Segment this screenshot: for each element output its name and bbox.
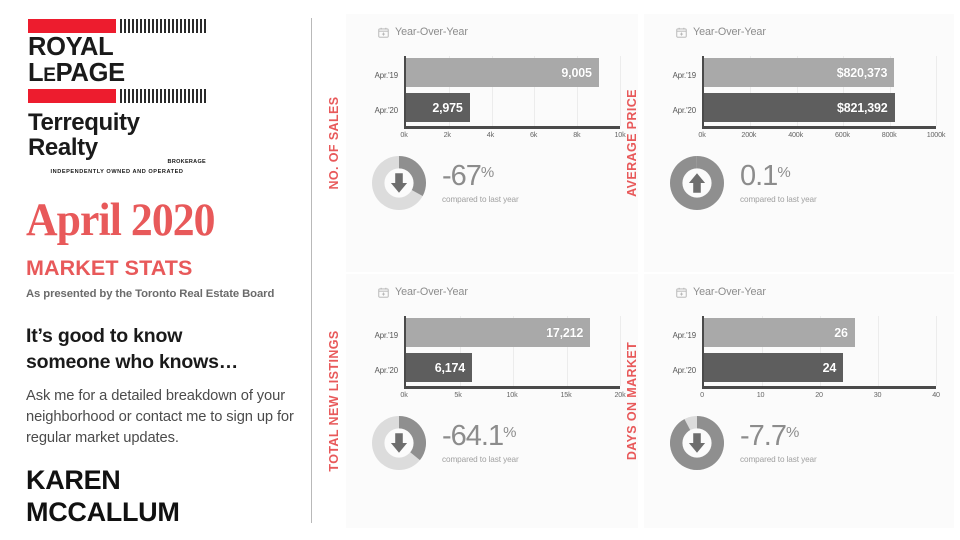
bar-prev-year: $820,373 xyxy=(704,58,894,87)
logo-brokerage-name: Terrequity Realty BROKERAGE xyxy=(28,110,206,160)
delta-percent-value: 0.1 xyxy=(740,160,777,192)
calendar-icon xyxy=(676,27,687,38)
yoy-label: Year-Over-Year xyxy=(693,26,766,38)
logo-brokerage-suffix: BROKERAGE xyxy=(168,160,206,166)
donut-down-icon-2 xyxy=(372,416,426,470)
gridline xyxy=(936,316,937,386)
bar-chart-no-of-sales: Apr.'19 Apr.'20 9,0052,975 0k2k4k6k8k10k xyxy=(356,52,624,144)
x-axis-ticks-1: 0k200k400k600k800k1000k xyxy=(702,130,936,142)
agent-blurb: Ask me for a detailed breakdown of your … xyxy=(26,386,296,449)
plot-area-2: 17,2126,174 xyxy=(404,316,620,386)
bar-value-label: $820,373 xyxy=(837,66,888,80)
calendar-icon xyxy=(378,287,389,298)
category-label-text: DAYS ON MARKET xyxy=(625,342,639,460)
bar-current-year: $821,392 xyxy=(704,93,895,122)
x-axis-line xyxy=(702,386,936,389)
category-label-average-price: AVERAGE PRICE xyxy=(620,14,644,272)
yoy-label: Year-Over-Year xyxy=(395,26,468,38)
agent-tagline-line1: It’s good to know xyxy=(26,324,296,350)
logo-bottom-row xyxy=(28,88,206,103)
bar-chart-days-on-market: Apr.'19 Apr.'20 2624 010203040 xyxy=(654,312,940,404)
x-tick-label: 30 xyxy=(874,390,882,399)
agent-name-last: MCCALLUM xyxy=(26,497,296,529)
percent-symbol: % xyxy=(786,424,799,441)
x-tick-label: 200k xyxy=(741,130,756,139)
bar-prev-year: 9,005 xyxy=(406,58,599,87)
infographic-page: ROYAL LEPAGE Terrequity Realty BROKERAGE… xyxy=(0,0,960,540)
logo-wordmark-part2: PAGE xyxy=(56,59,125,87)
bar-value-label: 17,212 xyxy=(546,326,583,340)
x-tick-label: 15k xyxy=(561,390,572,399)
yoy-header: Year-Over-Year xyxy=(378,26,624,38)
delta-note: compared to last year xyxy=(442,195,519,204)
stats-grid: NO. OF SALES Year-Over-Year xyxy=(322,14,954,528)
logo-wordmark-e: E xyxy=(43,65,55,86)
delta-percent: 0.1% xyxy=(740,162,817,191)
plot-area-0: 9,0052,975 xyxy=(404,56,620,126)
bar-chart-total-new-listings: Apr.'19 Apr.'20 17,2126,174 0k5k10k15k20… xyxy=(356,312,624,404)
stat-card-no-of-sales: NO. OF SALES Year-Over-Year xyxy=(322,14,638,272)
delta-percent: -67% xyxy=(442,162,519,191)
bar-prev-year: 26 xyxy=(704,318,855,347)
bar-current-year: 6,174 xyxy=(406,353,472,382)
x-tick-label: 2k xyxy=(444,130,451,139)
agent-tagline-line2: someone who knows… xyxy=(26,350,296,376)
bar-chart-average-price: Apr.'19 Apr.'20 $820,373$821,392 0k200k4… xyxy=(654,52,940,144)
x-tick-label: 6k xyxy=(530,130,537,139)
calendar-icon xyxy=(378,27,389,38)
x-axis-ticks-2: 0k5k10k15k20k xyxy=(404,390,620,402)
delta-note: compared to last year xyxy=(442,455,519,464)
delta-percent: -7.7% xyxy=(740,422,817,451)
x-axis-line xyxy=(702,126,936,129)
plot-area-3: 2624 xyxy=(702,316,936,386)
delta-row-average-price: 0.1% compared to last year xyxy=(654,156,940,210)
delta-note: compared to last year xyxy=(740,455,817,464)
bar-value-label: 9,005 xyxy=(561,66,591,80)
x-tick-label: 5k xyxy=(454,390,461,399)
delta-row-days-on-market: -7.7% compared to last year xyxy=(654,416,940,470)
x-tick-label: 0k xyxy=(400,390,407,399)
logo-tagline: INDEPENDENTLY OWNED AND OPERATED xyxy=(28,169,206,175)
x-axis-line xyxy=(404,386,620,389)
delta-text: -7.7% compared to last year xyxy=(740,422,817,464)
logo-top-row xyxy=(28,18,206,33)
royal-lepage-logo: ROYAL LEPAGE Terrequity Realty BROKERAGE… xyxy=(28,18,206,175)
percent-symbol: % xyxy=(777,164,790,181)
delta-note: compared to last year xyxy=(740,195,817,204)
delta-row-total-new-listings: -64.1% compared to last year xyxy=(356,416,624,470)
bar-value-label: $821,392 xyxy=(837,101,888,115)
gridline xyxy=(936,56,937,126)
agent-name: KAREN MCCALLUM xyxy=(26,465,296,529)
yoy-header: Year-Over-Year xyxy=(676,286,940,298)
category-label-text: AVERAGE PRICE xyxy=(625,89,639,197)
yoy-label: Year-Over-Year xyxy=(395,286,468,298)
category-label-total-new-listings: TOTAL NEW LISTINGS xyxy=(322,274,346,528)
bar-value-label: 26 xyxy=(834,326,848,340)
delta-text: -64.1% compared to last year xyxy=(442,422,519,464)
delta-percent-value: -64.1 xyxy=(442,420,503,452)
bar-category-label: Apr.'19 xyxy=(654,71,696,80)
subtitle-market-stats: MARKET STATS xyxy=(26,256,296,281)
x-tick-label: 40 xyxy=(932,390,940,399)
delta-text: -67% compared to last year xyxy=(442,162,519,204)
gridline xyxy=(878,316,879,386)
percent-symbol: % xyxy=(503,424,516,441)
x-tick-label: 600k xyxy=(835,130,850,139)
bar-category-label: Apr.'20 xyxy=(356,106,398,115)
x-axis-ticks-0: 0k2k4k6k8k10k xyxy=(404,130,620,142)
yoy-header: Year-Over-Year xyxy=(676,26,940,38)
presented-by-text: As presented by the Toronto Real Estate … xyxy=(26,288,296,300)
x-tick-label: 4k xyxy=(487,130,494,139)
stat-card-total-new-listings: TOTAL NEW LISTINGS Year-Over-Year xyxy=(322,274,638,528)
x-tick-label: 10 xyxy=(757,390,765,399)
logo-hatch-top xyxy=(120,19,206,33)
agent-name-first: KAREN xyxy=(26,465,296,497)
delta-row-no-of-sales: -67% compared to last year xyxy=(356,156,624,210)
logo-red-bar-bottom xyxy=(28,89,116,103)
bar-category-label: Apr.'20 xyxy=(654,366,696,375)
agent-tagline: It’s good to know someone who knows… xyxy=(26,324,296,375)
category-label-text: NO. OF SALES xyxy=(327,96,341,189)
x-tick-label: 400k xyxy=(788,130,803,139)
x-tick-label: 20 xyxy=(815,390,823,399)
bar-category-label: Apr.'20 xyxy=(654,106,696,115)
card-body: Year-Over-Year Apr.'19 Apr.'20 17,2126,1… xyxy=(346,274,638,528)
yoy-label: Year-Over-Year xyxy=(693,286,766,298)
bar-category-label: Apr.'19 xyxy=(356,71,398,80)
card-body: Year-Over-Year Apr.'19 Apr.'20 $820,373$… xyxy=(644,14,954,272)
bar-value-label: 6,174 xyxy=(435,361,465,375)
x-axis-line xyxy=(404,126,620,129)
stat-card-days-on-market: DAYS ON MARKET Year-Over-Year xyxy=(620,274,954,528)
card-body: Year-Over-Year Apr.'19 Apr.'20 2624 0102… xyxy=(644,274,954,528)
bar-category-label: Apr.'20 xyxy=(356,366,398,375)
bar-category-label: Apr.'19 xyxy=(356,331,398,340)
left-panel: ROYAL LEPAGE Terrequity Realty BROKERAGE… xyxy=(0,0,310,540)
x-tick-label: 1000k xyxy=(927,130,946,139)
bar-value-label: 24 xyxy=(823,361,837,375)
logo-wordmark: ROYAL LEPAGE xyxy=(28,35,206,86)
bar-category-label: Apr.'19 xyxy=(654,331,696,340)
vertical-divider xyxy=(311,18,312,523)
x-tick-label: 10k xyxy=(507,390,518,399)
x-tick-label: 0k xyxy=(698,130,705,139)
x-tick-label: 0k xyxy=(400,130,407,139)
x-tick-label: 0 xyxy=(700,390,704,399)
yoy-header: Year-Over-Year xyxy=(378,286,624,298)
x-axis-ticks-3: 010203040 xyxy=(702,390,936,402)
logo-hatch-bottom xyxy=(120,89,206,103)
donut-down-icon-3 xyxy=(670,416,724,470)
logo-red-bar-top xyxy=(28,19,116,33)
card-body: Year-Over-Year Apr.'19 Apr.'20 9,0052,97… xyxy=(346,14,638,272)
x-tick-label: 800k xyxy=(882,130,897,139)
stat-card-average-price: AVERAGE PRICE Year-Over-Year xyxy=(620,14,954,272)
bar-current-year: 2,975 xyxy=(406,93,470,122)
delta-percent-value: -7.7 xyxy=(740,420,786,452)
calendar-icon xyxy=(676,287,687,298)
plot-area-1: $820,373$821,392 xyxy=(702,56,936,126)
page-title: April 2020 xyxy=(26,197,277,244)
donut-down-icon-0 xyxy=(372,156,426,210)
category-label-no-of-sales: NO. OF SALES xyxy=(322,14,346,272)
x-tick-label: 8k xyxy=(573,130,580,139)
logo-brokerage-text: Terrequity Realty xyxy=(28,109,140,161)
category-label-text: TOTAL NEW LISTINGS xyxy=(327,330,341,471)
delta-percent: -64.1% xyxy=(442,422,519,451)
category-label-days-on-market: DAYS ON MARKET xyxy=(620,274,644,528)
delta-text: 0.1% compared to last year xyxy=(740,162,817,204)
bar-value-label: 2,975 xyxy=(432,101,462,115)
bar-prev-year: 17,212 xyxy=(406,318,590,347)
donut-up-icon-1 xyxy=(670,156,724,210)
percent-symbol: % xyxy=(481,164,494,181)
bar-current-year: 24 xyxy=(704,353,843,382)
delta-percent-value: -67 xyxy=(442,160,481,192)
